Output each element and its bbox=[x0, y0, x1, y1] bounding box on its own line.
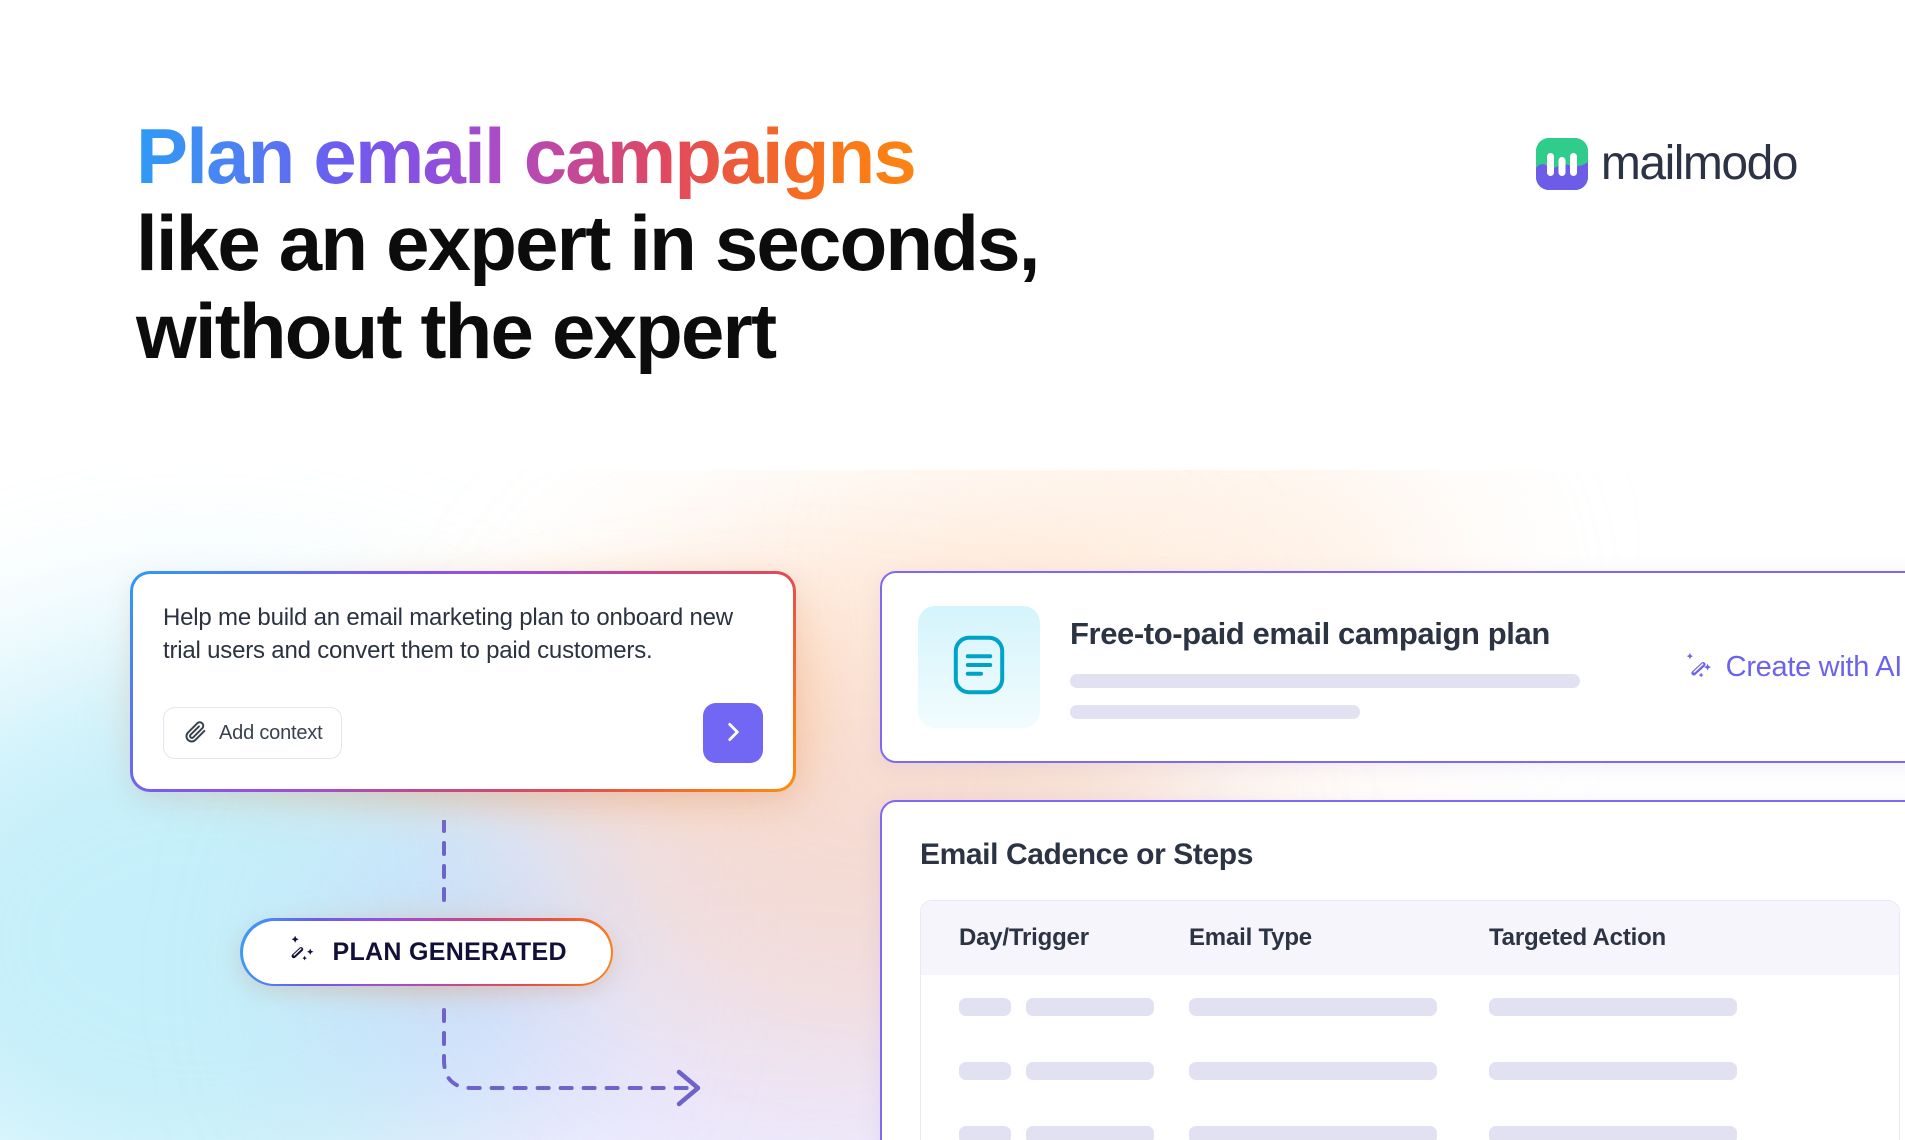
skeleton-pill bbox=[959, 1062, 1011, 1080]
prompt-actions-row: Add context bbox=[163, 703, 763, 763]
skeleton-pill bbox=[1489, 1062, 1737, 1080]
prompt-input[interactable]: Help me build an email marketing plan to… bbox=[163, 602, 763, 667]
skeleton-pill bbox=[1189, 1126, 1437, 1140]
skeleton-pill bbox=[959, 1126, 1011, 1140]
create-with-ai-label: Create with AI bbox=[1726, 651, 1902, 684]
skeleton-pill bbox=[1026, 998, 1154, 1016]
table-column-header-targeted-action: Targeted Action bbox=[1489, 924, 1899, 952]
table-cell-email-type bbox=[1189, 998, 1489, 1016]
status-badge-label: PLAN GENERATED bbox=[333, 938, 567, 967]
skeleton-pill bbox=[1489, 998, 1737, 1016]
table-row[interactable] bbox=[921, 975, 1899, 1039]
table-cell-day-trigger bbox=[921, 1126, 1189, 1140]
plan-title: Free-to-paid email campaign plan bbox=[1070, 616, 1655, 652]
table-cell-targeted-action bbox=[1489, 1126, 1899, 1140]
status-badge-body: PLAN GENERATED bbox=[243, 921, 611, 984]
skeleton-pill bbox=[1489, 1126, 1737, 1140]
skeleton-pill bbox=[1189, 998, 1437, 1016]
prompt-card-container: Help me build an email marketing plan to… bbox=[130, 571, 796, 792]
magic-wand-sparkle-icon bbox=[1683, 650, 1715, 685]
plan-skeleton-line-1 bbox=[1070, 674, 1580, 688]
table-cell-email-type bbox=[1189, 1126, 1489, 1140]
magic-wand-sparkle-icon bbox=[287, 935, 317, 970]
table-cell-day-trigger bbox=[921, 1062, 1189, 1080]
prompt-card-body: Help me build an email marketing plan to… bbox=[133, 574, 793, 789]
table-column-header-email-type: Email Type bbox=[1189, 924, 1489, 952]
skeleton-pill bbox=[1189, 1062, 1437, 1080]
email-cadence-title: Email Cadence or Steps bbox=[920, 838, 1900, 872]
table-row[interactable] bbox=[921, 1103, 1899, 1140]
table-column-header-day-trigger: Day/Trigger bbox=[921, 924, 1189, 952]
headline-line-1: Plan email campaigns bbox=[136, 113, 915, 200]
table-cell-targeted-action bbox=[1489, 1062, 1899, 1080]
document-icon-container bbox=[918, 606, 1040, 728]
add-context-button[interactable]: Add context bbox=[163, 707, 342, 759]
email-cadence-card: Email Cadence or Steps Day/Trigger Email… bbox=[880, 800, 1905, 1140]
plan-skeleton-line-2 bbox=[1070, 705, 1360, 719]
plan-header-card: Free-to-paid email campaign plan Create … bbox=[880, 571, 1905, 763]
document-lines-icon bbox=[953, 635, 1005, 700]
status-badge-container: PLAN GENERATED bbox=[240, 918, 613, 986]
table-row[interactable] bbox=[921, 1039, 1899, 1103]
plan-header-text: Free-to-paid email campaign plan bbox=[1070, 616, 1655, 719]
skeleton-pill bbox=[1026, 1062, 1154, 1080]
chevron-right-icon bbox=[720, 719, 746, 748]
add-context-label: Add context bbox=[219, 722, 322, 745]
create-with-ai-button[interactable]: Create with AI bbox=[1683, 650, 1902, 685]
table-header-row: Day/Trigger Email Type Targeted Action bbox=[921, 901, 1899, 975]
paperclip-icon bbox=[183, 719, 208, 747]
status-badge: PLAN GENERATED bbox=[240, 918, 613, 986]
prompt-card: Help me build an email marketing plan to… bbox=[130, 571, 796, 792]
skeleton-pill bbox=[1026, 1126, 1154, 1140]
table-cell-targeted-action bbox=[1489, 998, 1899, 1016]
table-cell-email-type bbox=[1189, 1062, 1489, 1080]
table-cell-day-trigger bbox=[921, 998, 1189, 1016]
email-cadence-table: Day/Trigger Email Type Targeted Action bbox=[920, 900, 1900, 1140]
skeleton-pill bbox=[959, 998, 1011, 1016]
send-prompt-button[interactable] bbox=[703, 703, 763, 763]
plan-output-panel: Free-to-paid email campaign plan Create … bbox=[880, 0, 1905, 1140]
